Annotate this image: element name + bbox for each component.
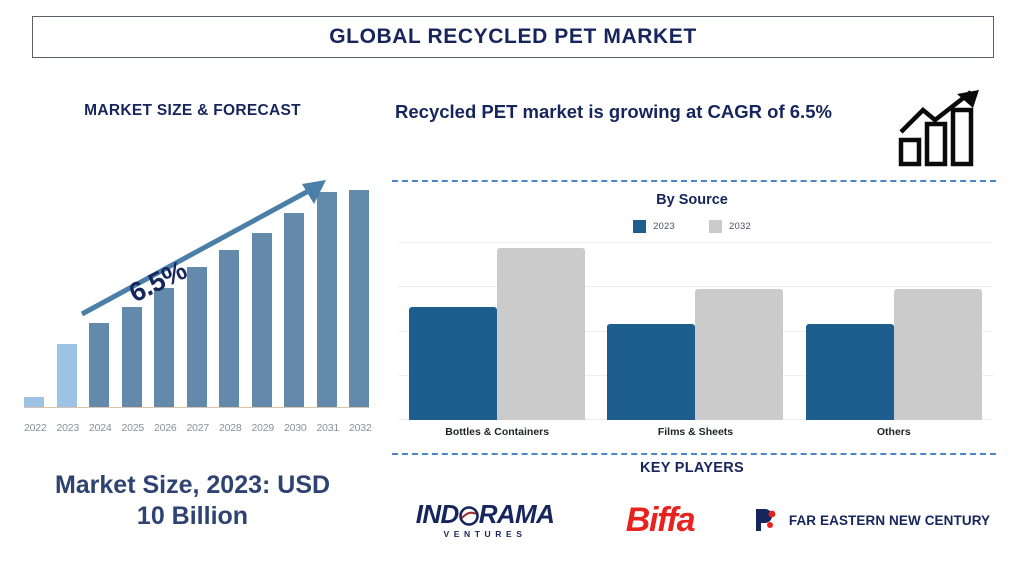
fenc-wordmark: FAR EASTERN NEW CENTURY (789, 513, 990, 528)
bar-group (795, 289, 993, 420)
chart-legend: 20232032 (390, 220, 994, 233)
indorama-wordmark: IND RAMA (416, 501, 555, 527)
divider-bottom (392, 453, 996, 455)
chart-baseline (24, 407, 369, 408)
forecast-year-label: 2024 (89, 422, 109, 434)
by-source-category-label: Bottles & Containers (398, 426, 596, 438)
logo-far-eastern-new-century: FAR EASTERN NEW CENTURY (740, 505, 1004, 535)
forecast-bar (24, 397, 44, 407)
up-trend-arrow-icon (14, 166, 374, 376)
page-title: GLOBAL RECYCLED PET MARKET (329, 25, 697, 49)
bar-group (596, 289, 794, 420)
forecast-year-label: 2029 (252, 422, 272, 434)
legend-item[interactable]: 2032 (709, 220, 751, 233)
by-source-category-label: Others (795, 426, 993, 438)
insights-panel: Recycled PET market is growing at CAGR o… (390, 70, 1024, 576)
forecast-year-labels: 2022202320242025202620272028202920302031… (24, 422, 369, 434)
forecast-year-label: 2022 (24, 422, 44, 434)
by-source-category-label: Films & Sheets (596, 426, 794, 438)
biffa-wordmark: Biffa (626, 503, 694, 537)
logo-indorama: IND RAMA VENTURES (390, 501, 580, 539)
by-source-chart (398, 242, 993, 420)
logo-biffa: Biffa (580, 503, 740, 537)
key-players-logos: IND RAMA VENTURES Biffa (390, 485, 1004, 555)
by-source-bar (409, 307, 497, 420)
indorama-subtitle: VENTURES (416, 529, 555, 539)
by-source-bar (894, 289, 982, 420)
cagr-headline: Recycled PET market is growing at CAGR o… (395, 100, 875, 125)
forecast-year-label: 2031 (317, 422, 337, 434)
by-source-bars (398, 242, 993, 420)
indorama-swirl-icon (459, 501, 479, 527)
forecast-year-label: 2028 (219, 422, 239, 434)
market-size-line2: 10 Billion (0, 501, 385, 532)
by-source-bar (607, 324, 695, 420)
market-size-caption: Market Size, 2023: USD 10 Billion (0, 470, 385, 533)
legend-swatch (709, 220, 722, 233)
by-source-bar (695, 289, 783, 420)
by-source-title: By Source (390, 192, 994, 208)
left-section-title: MARKET SIZE & FORECAST (0, 102, 385, 120)
forecast-year-label: 2025 (122, 422, 142, 434)
forecast-year-label: 2027 (187, 422, 207, 434)
infographic-page: GLOBAL RECYCLED PET MARKET MARKET SIZE &… (0, 0, 1024, 576)
bar-group (398, 248, 596, 420)
market-size-panel: MARKET SIZE & FORECAST 20222023202420252… (0, 70, 385, 576)
bar-chart-growth-icon (895, 88, 995, 168)
legend-swatch (633, 220, 646, 233)
forecast-year-label: 2030 (284, 422, 304, 434)
forecast-year-label: 2032 (349, 422, 369, 434)
legend-label: 2023 (653, 221, 675, 232)
fenc-monogram-icon (754, 505, 780, 535)
by-source-bar (806, 324, 894, 420)
by-source-bar (497, 248, 585, 420)
header-banner: GLOBAL RECYCLED PET MARKET (32, 16, 994, 58)
forecast-year-label: 2026 (154, 422, 174, 434)
forecast-year-label: 2023 (57, 422, 77, 434)
legend-label: 2032 (729, 221, 751, 232)
key-players-title: KEY PLAYERS (390, 460, 994, 476)
legend-item[interactable]: 2023 (633, 220, 675, 233)
by-source-category-labels: Bottles & ContainersFilms & SheetsOthers (398, 426, 993, 438)
divider-top (392, 180, 996, 182)
market-size-line1: Market Size, 2023: USD (0, 470, 385, 501)
